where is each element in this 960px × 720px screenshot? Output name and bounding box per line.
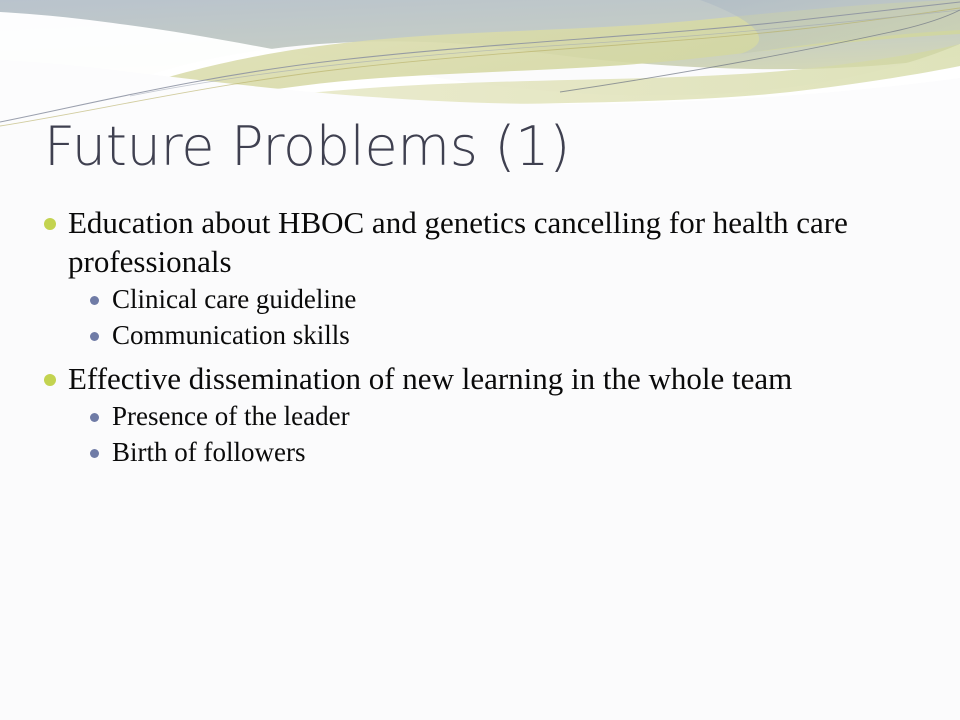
- list-item-label: Clinical care guideline: [112, 282, 356, 317]
- list-item: Clinical care guideline: [44, 282, 924, 317]
- list-item-label: Communication skills: [112, 318, 350, 353]
- round-bullet-icon: [90, 399, 112, 422]
- round-bullet-icon: [44, 359, 68, 386]
- list-item: Birth of followers: [44, 435, 924, 470]
- list-item: Education about HBOC and genetics cancel…: [44, 203, 924, 281]
- ribbon-upper-wash: [0, 0, 960, 126]
- slide: Future Problems (1) Education about HBOC…: [0, 0, 960, 720]
- ribbon-steel-wedge: [700, 0, 960, 54]
- ribbon-khaki-band: [0, 0, 960, 130]
- title-placeholder: Future Problems (1): [44, 116, 914, 178]
- header-decoration-graphic: [0, 0, 960, 130]
- list-item-label: Birth of followers: [112, 435, 305, 470]
- hairline-curve-gray-3: [560, 10, 960, 92]
- list-item-label: Effective dissemination of new learning …: [68, 359, 792, 398]
- hairline-curve-gray-2: [130, 10, 960, 96]
- list-item: Presence of the leader: [44, 399, 924, 434]
- ribbon-white-sweep: [0, 12, 960, 130]
- list-item-label: Education about HBOC and genetics cancel…: [68, 203, 858, 281]
- list-item: Communication skills: [44, 318, 924, 353]
- body-placeholder: Education about HBOC and genetics cancel…: [44, 203, 924, 471]
- hairline-curve-olive: [0, 8, 960, 126]
- page-title: Future Problems (1): [44, 116, 914, 178]
- round-bullet-icon: [44, 203, 68, 230]
- round-bullet-icon: [90, 282, 112, 305]
- list-item-label: Presence of the leader: [112, 399, 350, 434]
- round-bullet-icon: [90, 318, 112, 341]
- list-item: Effective dissemination of new learning …: [44, 359, 924, 398]
- round-bullet-icon: [90, 435, 112, 458]
- hairline-curve-gray: [0, 2, 960, 122]
